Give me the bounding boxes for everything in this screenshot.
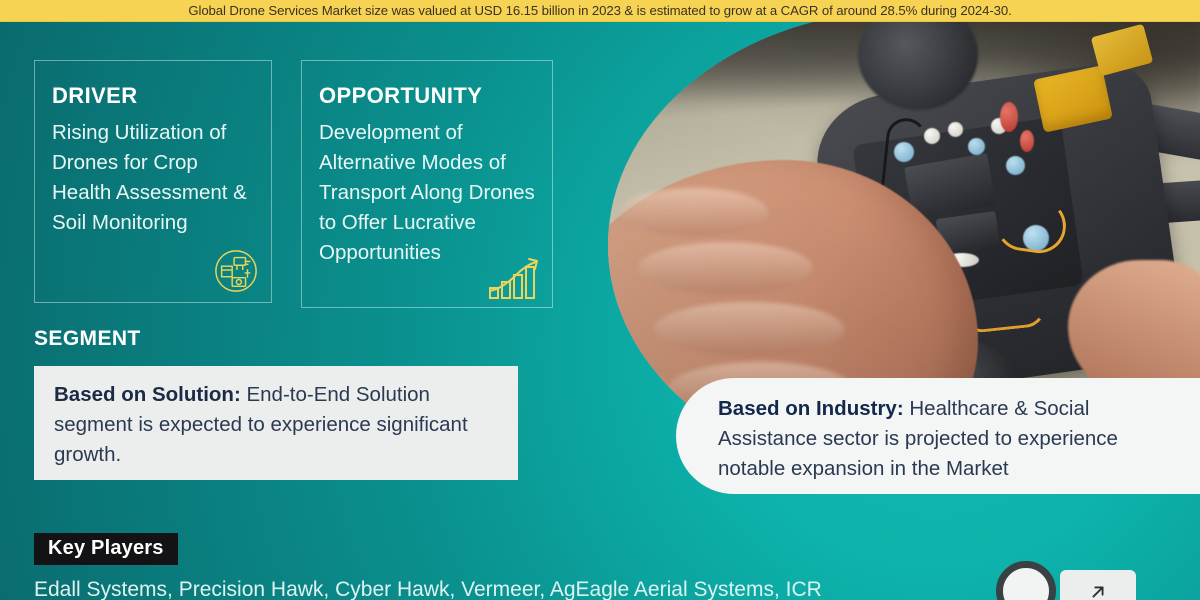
driver-title: DRIVER <box>52 83 138 109</box>
opportunity-card: OPPORTUNITY Development of Alternative M… <box>301 60 553 308</box>
global-delivery-circle-icon <box>213 248 259 294</box>
driver-card: DRIVER Rising Utilization of Drones for … <box>34 60 272 303</box>
circle-button[interactable] <box>996 561 1056 600</box>
key-players-badge: Key Players <box>34 533 178 565</box>
banner-text: Global Drone Services Market size was va… <box>188 3 1011 18</box>
opportunity-body: Development of Alternative Modes of Tran… <box>319 118 540 268</box>
segment-title: SEGMENT <box>34 327 141 351</box>
infographic-root: Global Drone Services Market size was va… <box>0 0 1200 600</box>
driver-body: Rising Utilization of Drones for Crop He… <box>52 118 259 238</box>
segment-industry-label: Based on Industry: <box>718 397 904 420</box>
expand-arrow-icon[interactable] <box>1060 570 1136 600</box>
key-players-badge-label: Key Players <box>48 537 164 559</box>
segment-industry-card: Based on Industry: Healthcare & Social A… <box>676 378 1200 494</box>
opportunity-title: OPPORTUNITY <box>319 83 482 109</box>
segment-solution-label: Based on Solution: <box>54 383 241 406</box>
segment-solution-card: Based on Solution: End-to-End Solution s… <box>34 366 518 480</box>
growth-bar-chart-arrow-icon <box>486 255 542 301</box>
top-banner: Global Drone Services Market size was va… <box>0 0 1200 22</box>
